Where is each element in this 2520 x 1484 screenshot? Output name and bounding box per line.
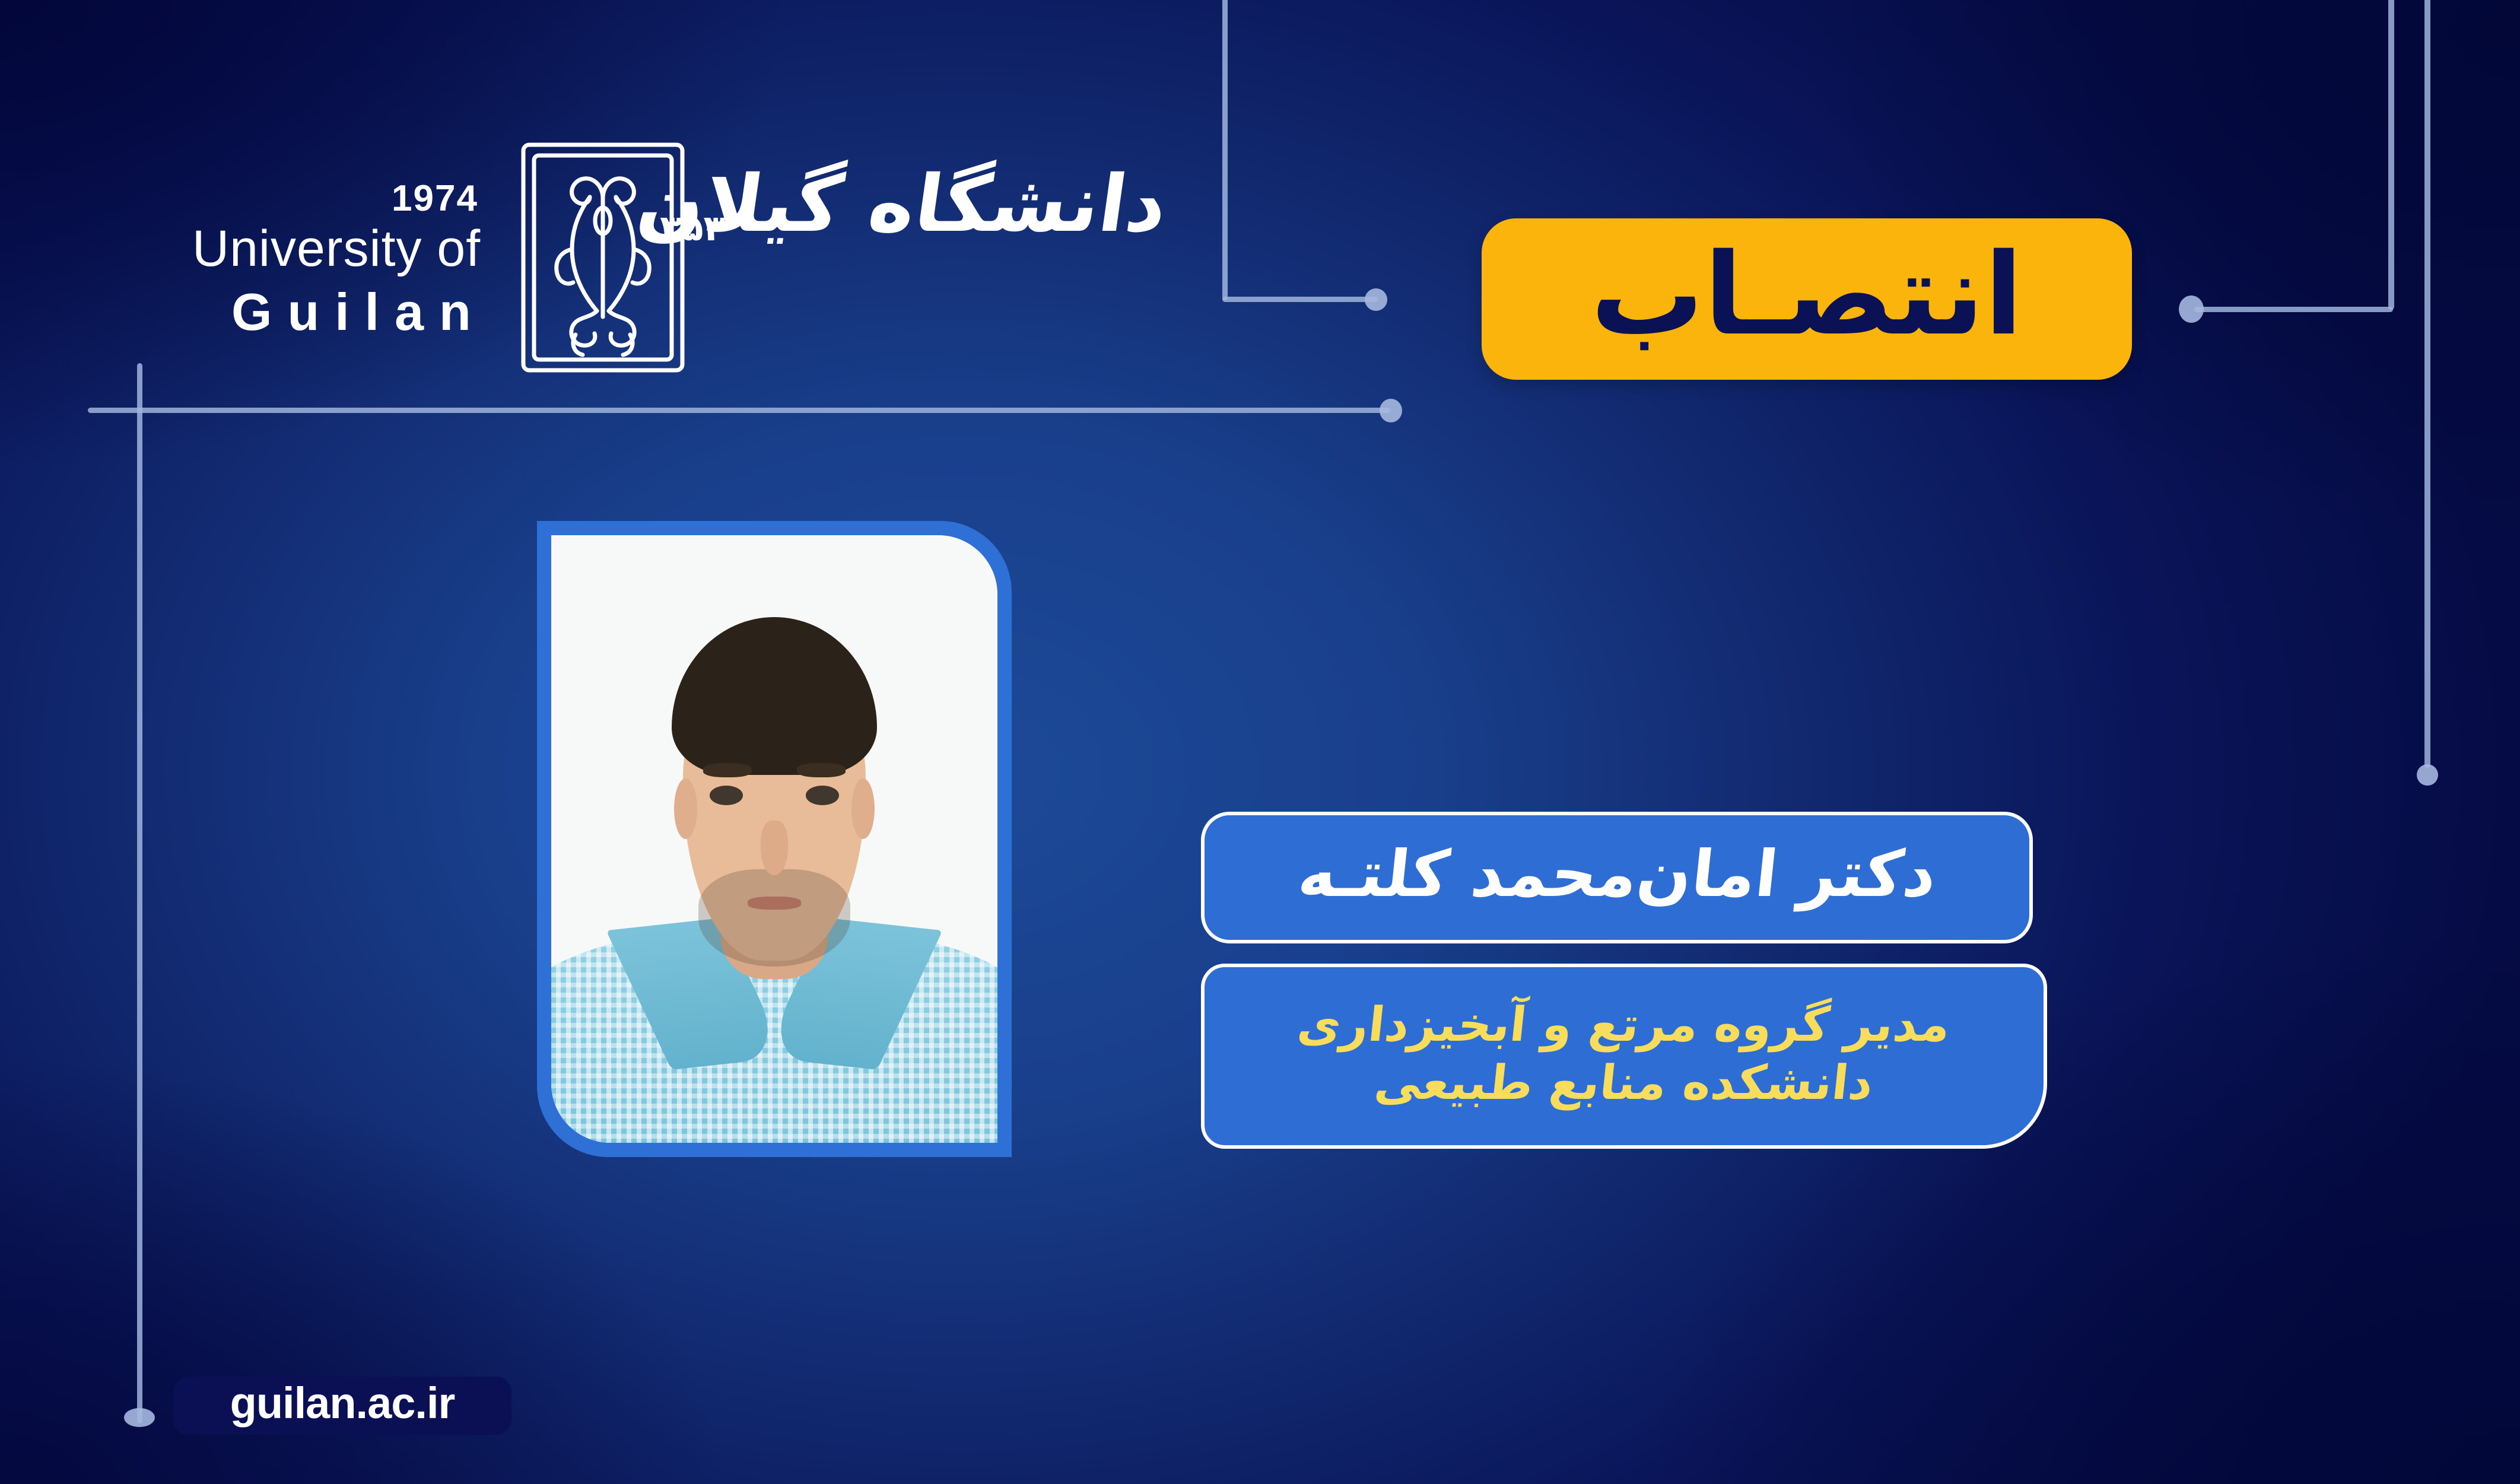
decorative-line-far-right-vertical [2424,0,2430,768]
decorative-dot-right-horizontal [2179,295,2204,323]
decorative-dot-left-vertical [124,1408,155,1427]
headline-badge-appointment: انتصـاب [1482,218,2132,380]
logo-university-word: University of [192,222,510,275]
headline-badge-label: انتصـاب [1591,243,2023,355]
portrait-eye-right [806,786,839,805]
logo-english-text-block: 1974 University of Guilan [178,138,510,341]
logo-persian-text-block: ۱۳۵۳ دانشگاه گیلان [692,138,1167,375]
portrait-nose [761,821,787,875]
person-name: دکتر امان‌محمد کلتـه [1295,843,1940,913]
person-position-line-2: دانشکده منابع طبیعی [1372,1054,1876,1112]
portrait-ear-right [851,778,875,839]
decorative-dot-far-right [2417,764,2438,786]
decorative-line-top-horizontal [88,408,1390,413]
portrait-ear-left [674,778,697,839]
decorative-line-middle-horizontal [1222,297,1378,302]
logo-founding-year-gregorian: 1974 [392,180,510,217]
person-name-card: دکتر امان‌محمد کلتـه [1201,812,2033,943]
logo-guilan-word: Guilan [231,284,510,341]
decorative-line-middle-vertical [1222,0,1228,300]
logo-university-name-persian: دانشگاه گیلان [722,165,1172,243]
decorative-dot-top-horizontal [1380,399,1402,422]
portrait-photo [551,535,997,1143]
portrait-eyebrow-left [703,763,752,777]
decorative-line-right-horizontal [2194,307,2393,312]
portrait-beard [698,869,850,967]
appointment-poster: 1974 University of Guilan [0,0,2520,1484]
person-position-card: مدیر گروه مرتع و آبخیزداری دانشکده منابع… [1201,964,2047,1149]
decorative-dot-middle [1365,288,1387,311]
portrait-eye-left [710,786,743,805]
decorative-line-left-vertical [137,363,142,1423]
person-position-line-1: مدیر گروه مرتع و آبخیزداری [1295,996,1953,1054]
website-url-pill[interactable]: guilan.ac.ir [173,1377,511,1435]
portrait-mouth [748,897,801,910]
portrait-eyebrow-right [797,763,846,777]
decorative-line-right-vertical [2388,0,2394,310]
portrait-frame [537,521,1012,1157]
website-url-label: guilan.ac.ir [230,1381,455,1430]
university-logo: 1974 University of Guilan [178,138,1210,387]
